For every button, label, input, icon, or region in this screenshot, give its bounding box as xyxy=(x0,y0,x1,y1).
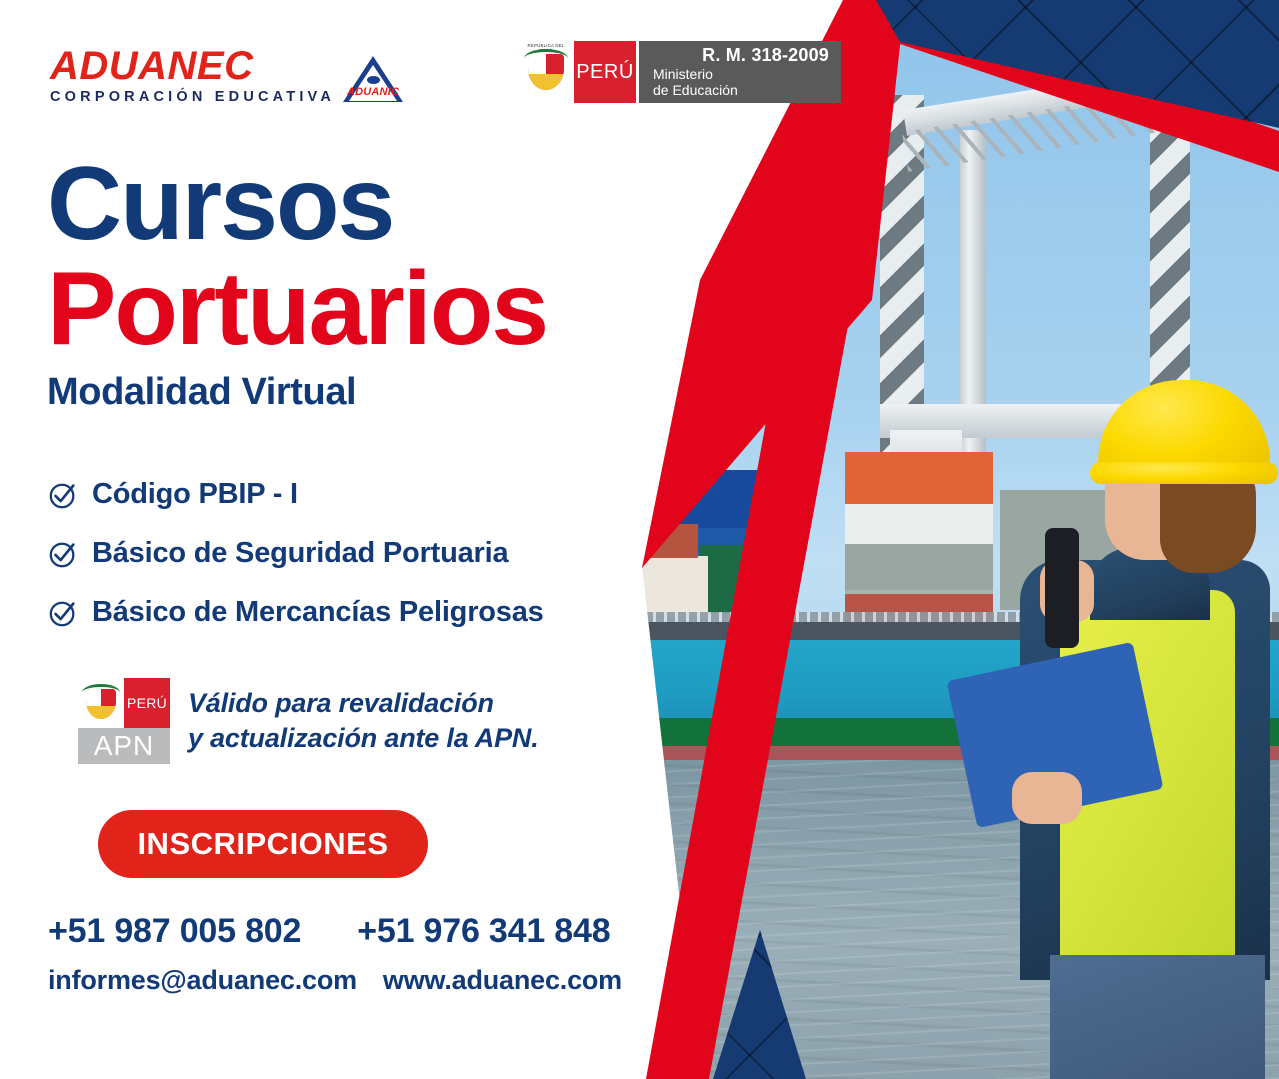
apn-logo: PERÚ APN xyxy=(78,678,170,764)
circle-check-icon xyxy=(48,480,78,510)
peru-coat-of-arms-icon: REPÚBLICA DEL PERÚ xyxy=(518,41,574,103)
worker-radio xyxy=(1045,528,1079,648)
course-label: Código PBIP - I xyxy=(92,478,298,511)
phone-row: +51 987 005 802 +51 976 341 848 xyxy=(48,912,622,951)
container-gray xyxy=(845,544,993,590)
shield-quarter-2 xyxy=(546,54,564,74)
eye-icon xyxy=(367,76,380,84)
headline-subtitle: Modalidad Virtual xyxy=(47,373,547,411)
ministry-block: R. M. 318-2009 Ministerio de Educación xyxy=(639,41,841,103)
shield-quarter-3 xyxy=(86,706,116,720)
apn-peru-label: PERÚ xyxy=(124,678,170,728)
resolution-number: R. M. 318-2009 xyxy=(653,46,829,66)
ministry-accreditation-badge: REPÚBLICA DEL PERÚ PERÚ R. M. 318-2009 M… xyxy=(518,41,841,103)
headline-line-1: Cursos xyxy=(47,155,547,254)
peru-label: PERÚ xyxy=(574,41,636,103)
aduanec-logo[interactable]: ADUANEC CORPORACIÓN EDUCATIVA ADUANIC xyxy=(50,46,403,105)
circle-check-icon xyxy=(48,598,78,628)
worker-jeans xyxy=(1050,955,1265,1079)
shield-quarter-1 xyxy=(86,689,101,706)
headline-group: Cursos Portuarios Modalidad Virtual xyxy=(47,155,547,411)
shield-quarter-1 xyxy=(528,54,546,74)
inscripciones-button[interactable]: INSCRIPCIONES xyxy=(98,810,428,878)
aduanec-wordmark-group: ADUANEC CORPORACIÓN EDUCATIVA xyxy=(50,46,335,105)
ministry-line-2: de Educación xyxy=(653,82,829,98)
course-label: Básico de Seguridad Portuaria xyxy=(92,537,508,570)
aduanec-wordmark: ADUANEC xyxy=(50,46,335,86)
shield-icon xyxy=(528,54,564,90)
course-list: Código PBIP - I Básico de Seguridad Port… xyxy=(48,478,544,655)
shield-quarter-3 xyxy=(528,74,564,90)
phone-number-1[interactable]: +51 987 005 802 xyxy=(48,912,301,951)
course-label: Básico de Mercancías Peligrosas xyxy=(92,596,544,629)
apn-note-line-2: y actualización ante la APN. xyxy=(188,721,539,756)
link-row: informes@aduanec.com www.aduanec.com xyxy=(48,965,622,996)
contact-block: +51 987 005 802 +51 976 341 848 informes… xyxy=(48,912,622,996)
shield-quarter-2 xyxy=(101,689,116,706)
container-orange xyxy=(845,452,993,504)
peru-coat-of-arms-icon xyxy=(78,678,124,728)
worker-hand-clipboard xyxy=(1012,772,1082,824)
website-link[interactable]: www.aduanec.com xyxy=(383,965,622,996)
email-link[interactable]: informes@aduanec.com xyxy=(48,965,357,996)
list-item: Básico de Seguridad Portuaria xyxy=(48,537,544,570)
container-white xyxy=(845,504,993,544)
promo-banner: ADUANEC CORPORACIÓN EDUCATIVA ADUANIC RE… xyxy=(0,0,1279,1079)
apn-validity-note: PERÚ APN Válido para revalidación y actu… xyxy=(78,678,539,764)
aduanec-tagline: CORPORACIÓN EDUCATIVA xyxy=(50,90,335,105)
worker-hard-hat-brim xyxy=(1090,462,1278,484)
apn-note-text: Válido para revalidación y actualización… xyxy=(188,686,539,755)
apn-authority-label: APN xyxy=(78,728,170,764)
list-item: Básico de Mercancías Peligrosas xyxy=(48,596,544,629)
ministry-line-1: Ministerio xyxy=(653,66,829,82)
apn-note-line-1: Válido para revalidación xyxy=(188,686,539,721)
shield-icon xyxy=(86,689,116,719)
container-cream xyxy=(636,556,708,616)
headline-line-2: Portuarios xyxy=(47,260,547,359)
apn-logo-top-row: PERÚ xyxy=(78,678,170,728)
phone-number-2[interactable]: +51 976 341 848 xyxy=(357,912,610,951)
circle-check-icon xyxy=(48,539,78,569)
list-item: Código PBIP - I xyxy=(48,478,544,511)
aduanec-triangle-icon: ADUANIC xyxy=(343,56,403,104)
aduanic-emblem-label: ADUANIC xyxy=(343,86,403,98)
